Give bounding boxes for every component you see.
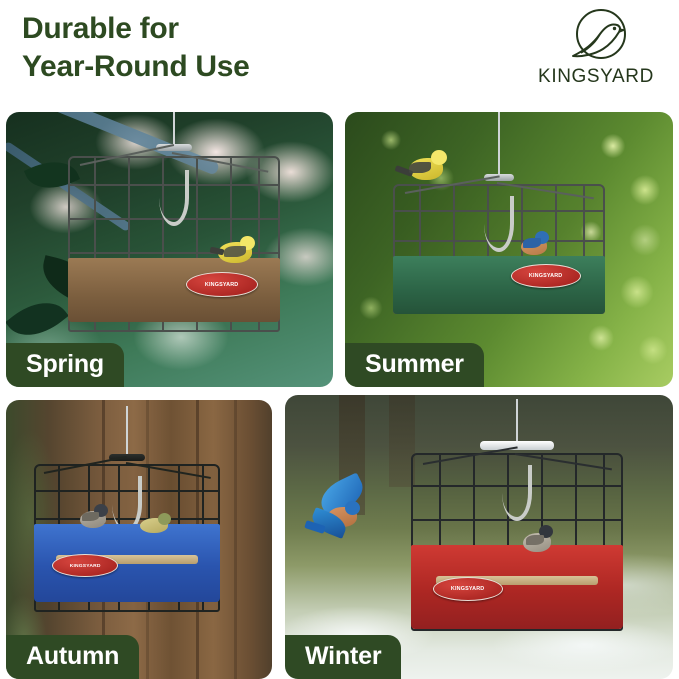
brand-name: KINGSYARD: [531, 66, 661, 88]
season-label-spring: Spring: [6, 343, 124, 387]
bird-finch: [138, 512, 178, 538]
kingsyard-badge: KINGSYARD: [433, 577, 503, 601]
hanging-wire: [516, 399, 518, 445]
season-panel-summer[interactable]: KINGSYARD Summer: [345, 112, 673, 387]
bird-feeder: KINGSYARD: [411, 399, 623, 643]
feeder-tray: [393, 256, 605, 314]
bird-goldfinch: [403, 146, 457, 188]
bird-flying-bluebird: [307, 483, 381, 545]
leaf: [6, 289, 69, 349]
hanging-wire: [173, 112, 175, 148]
brand-logo: KINGSYARD: [531, 6, 661, 98]
bird-feeder: KINGSYARD: [393, 112, 605, 318]
kingsyard-badge: KINGSYARD: [511, 264, 581, 288]
bird-goldfinch: [216, 234, 264, 268]
hanging-wire: [498, 112, 500, 178]
feeder-hook: [484, 196, 514, 252]
season-label-summer: Summer: [345, 343, 484, 387]
bird-feeder: KINGSYARD: [34, 406, 220, 622]
bird-in-circle-logo-icon: [567, 6, 629, 68]
page-title: Durable for Year-Round Use: [22, 10, 502, 86]
bird-bluebird: [519, 230, 555, 258]
bird-feeder: KINGSYARD: [68, 112, 280, 340]
headline-line-1: Durable for: [22, 12, 179, 45]
season-label-autumn: Autumn: [6, 635, 139, 679]
kingsyard-badge: KINGSYARD: [186, 272, 258, 297]
season-panel-spring[interactable]: KINGSYARD Spring: [6, 112, 333, 387]
hanging-wire: [126, 406, 128, 456]
feeder-hook: [159, 170, 189, 226]
bird-junco: [521, 523, 559, 557]
headline-line-2: Year-Round Use: [22, 48, 502, 86]
season-label-winter: Winter: [285, 635, 401, 679]
kingsyard-badge: KINGSYARD: [52, 554, 118, 577]
bird-junco: [78, 502, 114, 532]
feeder-hook: [502, 465, 532, 521]
season-panel-autumn[interactable]: KINGSYARD Autumn: [6, 400, 272, 679]
header: Durable for Year-Round Use KINGSYARD: [0, 0, 679, 112]
season-panel-winter[interactable]: KINGSYARD Winter: [285, 395, 673, 679]
infographic-page: Durable for Year-Round Use KINGSYARD: [0, 0, 679, 679]
